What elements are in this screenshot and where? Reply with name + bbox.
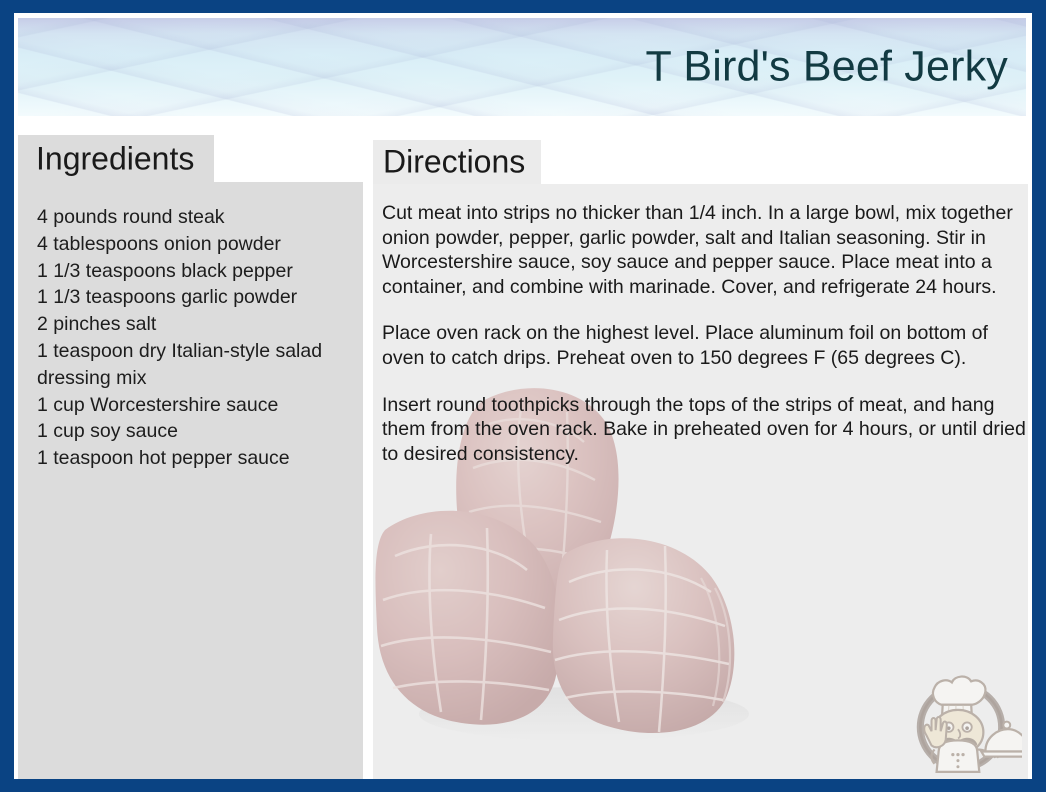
page-title: T Bird's Beef Jerky (646, 43, 1009, 92)
ingredients-panel: 4 pounds round steak 4 tablespoons onion… (18, 182, 363, 779)
chef-logo-icon (900, 658, 1022, 779)
card-inner-surface: T Bird's Beef Jerky Ingredients 4 pounds… (14, 13, 1032, 779)
directions-panel: Cut meat into strips no thicker than 1/4… (373, 184, 1028, 779)
list-item: 4 pounds round steak (37, 204, 355, 231)
list-item: 1 cup soy sauce (37, 418, 355, 445)
directions-paragraph: Insert round toothpicks through the tops… (382, 393, 1028, 467)
list-item: 2 pinches salt (37, 311, 355, 338)
ingredients-list: 4 pounds round steak 4 tablespoons onion… (37, 204, 355, 472)
list-item: 4 tablespoons onion powder (37, 231, 355, 258)
directions-paragraph: Place oven rack on the highest level. Pl… (382, 321, 1028, 370)
ingredients-heading: Ingredients (36, 140, 194, 177)
list-item: 1 1/3 teaspoons black pepper (37, 258, 355, 285)
directions-paragraph: Cut meat into strips no thicker than 1/4… (382, 201, 1028, 299)
list-item: 1 teaspoon hot pepper sauce (37, 445, 355, 472)
directions-heading: Directions (383, 144, 525, 181)
list-item: 1 cup Worcestershire sauce (37, 392, 355, 419)
list-item: 1 1/3 teaspoons garlic powder (37, 284, 355, 311)
ingredients-tab: Ingredients (18, 135, 214, 182)
directions-body: Cut meat into strips no thicker than 1/4… (382, 201, 1028, 466)
recipe-card: T Bird's Beef Jerky Ingredients 4 pounds… (0, 0, 1046, 792)
title-banner: T Bird's Beef Jerky (18, 18, 1026, 116)
list-item: 1 teaspoon dry Italian-style salad dress… (37, 338, 355, 392)
directions-tab: Directions (373, 140, 541, 184)
